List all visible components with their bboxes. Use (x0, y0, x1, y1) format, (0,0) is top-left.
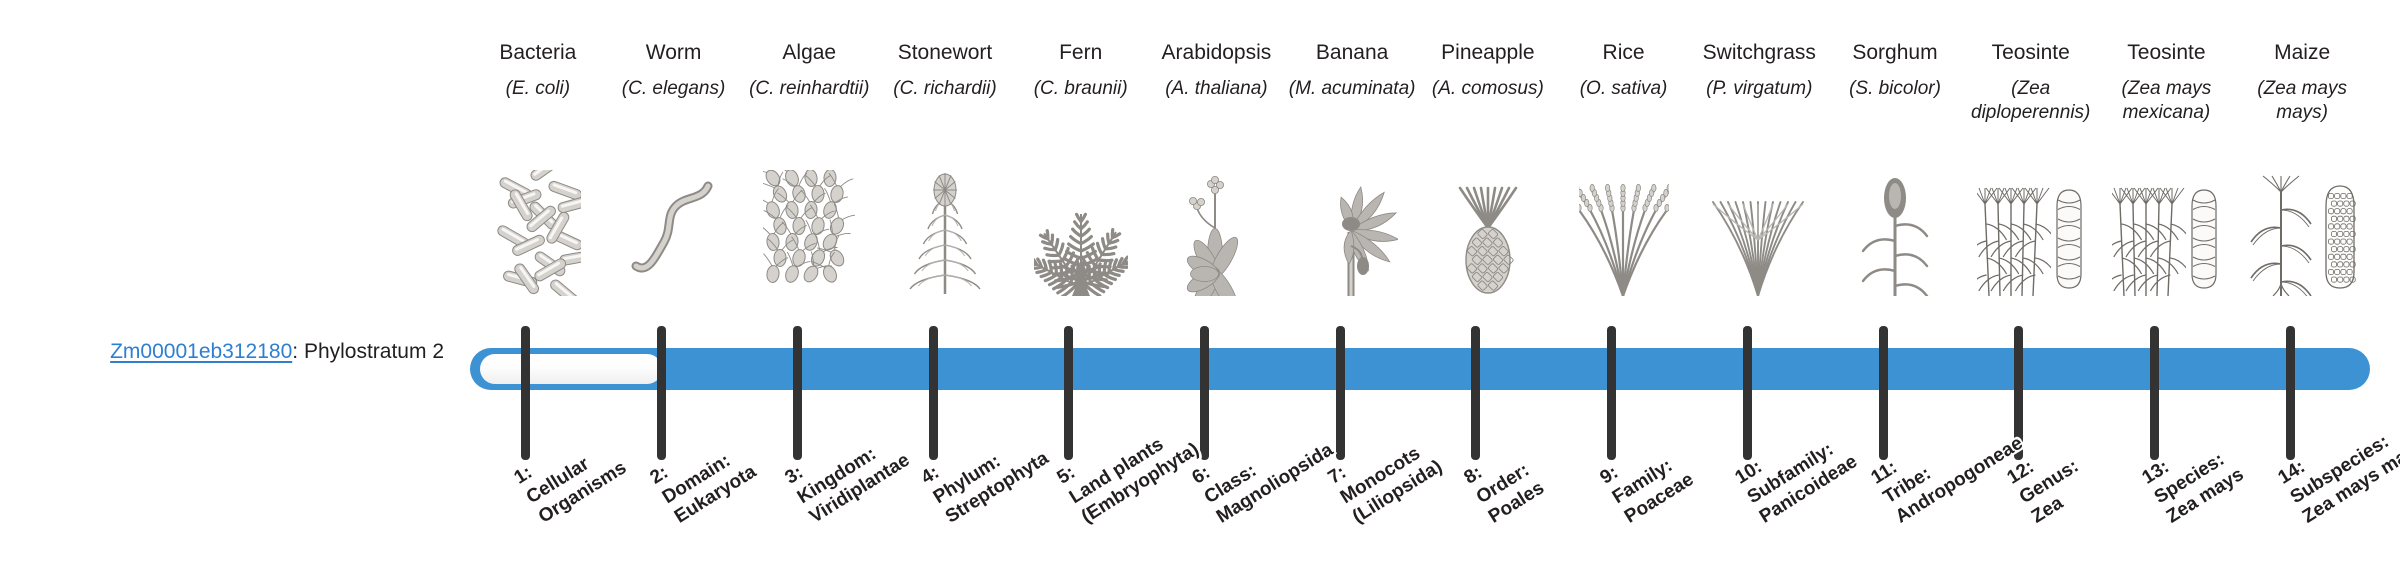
phylostratum-tick-14[interactable] (2286, 326, 2295, 460)
phylostratum-tick-1[interactable] (521, 326, 530, 460)
species-common-name: Banana (1284, 40, 1420, 67)
species-scientific-name: (O. sativa) (1556, 77, 1692, 101)
species-header: Worm(C. elegans) (606, 40, 742, 101)
species-common-name: Bacteria (470, 40, 606, 67)
species-header: Bacteria(E. coli) (470, 40, 606, 101)
species-common-name: Stonewort (877, 40, 1013, 67)
arabidopsis-rosette-icon (1149, 168, 1285, 296)
species-header: Switchgrass(P. virgatum) (1691, 40, 1827, 101)
fern-icon (1013, 168, 1149, 296)
phylostratum-tick-8[interactable] (1471, 326, 1480, 460)
gene-label-separator: : (292, 340, 304, 363)
species-scientific-name: (A. comosus) (1420, 77, 1556, 101)
species-scientific-name: (P. virgatum) (1691, 77, 1827, 101)
species-common-name: Fern (1013, 40, 1149, 67)
sorghum-icon (1827, 168, 1963, 296)
species-common-name: Teosinte (2099, 40, 2235, 67)
maize-plant-and-cob-icon (2234, 168, 2370, 296)
species-header: Rice(O. sativa) (1556, 40, 1692, 101)
species-common-name: Worm (606, 40, 742, 67)
switchgrass-icon (1691, 168, 1827, 296)
phylostratum-tick-11[interactable] (1879, 326, 1888, 460)
phylostratum-tick-7[interactable] (1336, 326, 1345, 460)
teosinte-plant-and-ear-icon (2099, 168, 2235, 296)
species-common-name: Rice (1556, 40, 1692, 67)
species-common-name: Teosinte (1963, 40, 2099, 67)
rice-plant-icon (1556, 168, 1692, 296)
species-scientific-name: (Zea mays mexicana) (2099, 77, 2235, 126)
species-scientific-name: (M. acuminata) (1284, 77, 1420, 101)
phylostratum-tick-4[interactable] (929, 326, 938, 460)
phylostratum-tick-3[interactable] (793, 326, 802, 460)
stonewort-alga-icon (877, 168, 1013, 296)
species-header: Maize(Zea mays mays) (2234, 40, 2370, 126)
species-header: Stonewort(C. richardii) (877, 40, 1013, 101)
species-scientific-name: (C. reinhardtii) (741, 77, 877, 101)
species-common-name: Pineapple (1420, 40, 1556, 67)
gene-id-link[interactable]: Zm00001eb312180 (110, 340, 292, 363)
nematode-worm-icon (606, 168, 742, 296)
species-header: Fern(C. braunii) (1013, 40, 1149, 101)
species-scientific-name: (Zea diploperennis) (1963, 77, 2099, 126)
species-scientific-name: (C. elegans) (606, 77, 742, 101)
phylostratum-tick-6[interactable] (1200, 326, 1209, 460)
phylostratum-tick-13[interactable] (2150, 326, 2159, 460)
banana-tree-icon (1284, 168, 1420, 296)
species-scientific-name: (C. braunii) (1013, 77, 1149, 101)
species-common-name: Maize (2234, 40, 2370, 67)
phylostratigraphy-timeline: Zm00001eb312180: Phylostratum 2 Bacteria… (0, 0, 2400, 580)
species-scientific-name: (E. coli) (470, 77, 606, 101)
species-common-name: Switchgrass (1691, 40, 1827, 67)
species-scientific-name: (A. thaliana) (1149, 77, 1285, 101)
species-header: Teosinte(Zea diploperennis) (1963, 40, 2099, 126)
teosinte-plant-and-ear-icon (1963, 168, 2099, 296)
species-header: Algae(C. reinhardtii) (741, 40, 877, 101)
species-scientific-name: (Zea mays mays) (2234, 77, 2370, 126)
species-columns: Bacteria(E. coli)Worm(C. elegans)Algae(C… (470, 0, 2370, 580)
species-header: Pineapple(A. comosus) (1420, 40, 1556, 101)
species-common-name: Algae (741, 40, 877, 67)
species-scientific-name: (C. richardii) (877, 77, 1013, 101)
species-common-name: Arabidopsis (1149, 40, 1285, 67)
pineapple-icon (1420, 168, 1556, 296)
phylostratum-tick-2[interactable] (657, 326, 666, 460)
gene-phylostratum-label: Zm00001eb312180: Phylostratum 2 (0, 340, 460, 364)
phylostratum-tick-5[interactable] (1064, 326, 1073, 460)
bacteria-rods-icon (470, 168, 606, 296)
phylostratum-tick-9[interactable] (1607, 326, 1616, 460)
species-header: Arabidopsis(A. thaliana) (1149, 40, 1285, 101)
phylostratum-tick-10[interactable] (1743, 326, 1752, 460)
species-scientific-name: (S. bicolor) (1827, 77, 1963, 101)
species-common-name: Sorghum (1827, 40, 1963, 67)
species-header: Sorghum(S. bicolor) (1827, 40, 1963, 101)
phylostratum-value-text: Phylostratum 2 (304, 340, 444, 363)
species-header: Teosinte(Zea mays mexicana) (2099, 40, 2235, 126)
species-header: Banana(M. acuminata) (1284, 40, 1420, 101)
green-algae-cells-icon (741, 168, 877, 296)
